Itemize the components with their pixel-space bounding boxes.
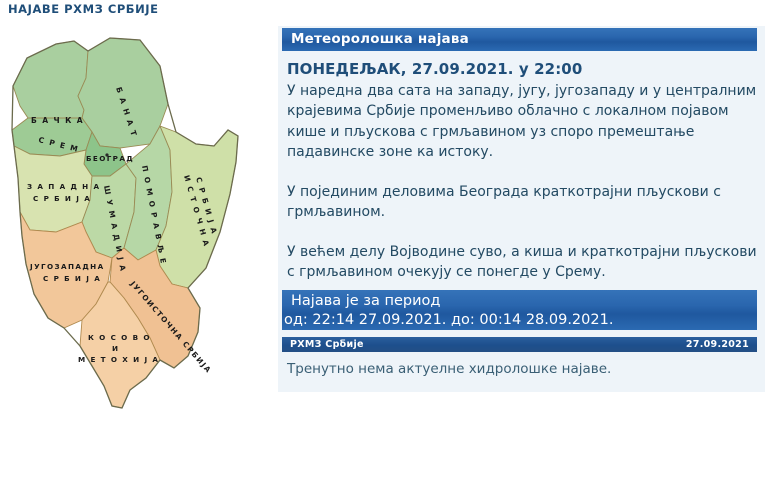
announcement-text-1: У наредна два сата на западу, југу, југо… — [287, 83, 756, 161]
belgrade-city-dot — [105, 153, 108, 156]
announcement-paragraph-2: У појединим деловима Београда краткотрај… — [287, 182, 757, 223]
map-label-jugozapadna-srbija-1: ЈУГОЗАПАДНА — [29, 262, 105, 271]
source-date: 27.09.2021 — [686, 337, 749, 352]
map-label-kosovo-2: И — [112, 344, 119, 353]
source-label: РХМЗ Србије — [290, 337, 364, 352]
announcement-paragraph-3: У већем делу Војводине суво, а киша и кр… — [287, 242, 757, 283]
source-bar: РХМЗ Србије 27.09.2021 — [282, 337, 757, 352]
announcement-lead: ПОНЕДЕЉАК, 27.09.2021. у 22:00 — [287, 59, 757, 80]
map-label-zapadna-srbija-1: З А П А Д Н А — [27, 182, 100, 191]
region-backa[interactable] — [13, 41, 88, 118]
period-label: Најава је за период — [291, 292, 757, 311]
map-label-jugozapadna-srbija-2: С Р Б И Ј А — [43, 274, 101, 283]
map-svg[interactable]: Б А Ч К А Б А Н А Т С Р Е М БЕОГРАД З А … — [0, 26, 276, 456]
map-label-zapadna-srbija-2: С Р Б И Ј А — [33, 194, 91, 203]
page-title: НАЈАВЕ РХМЗ СРБИЈЕ — [8, 2, 159, 16]
meteo-announcement-panel: Метеоролошка најава ПОНЕДЕЉАК, 27.09.202… — [278, 26, 765, 392]
period-range: од: 22:14 27.09.2021. до: 00:14 28.09.20… — [284, 311, 757, 330]
announcement-paragraph-1: ПОНЕДЕЉАК, 27.09.2021. у 22:00 У наредна… — [287, 59, 757, 163]
map-label-beograd: БЕОГРАД — [86, 154, 134, 163]
serbia-region-map[interactable]: Б А Ч К А Б А Н А Т С Р Е М БЕОГРАД З А … — [0, 26, 276, 456]
page-root: НАЈАВЕ РХМЗ СРБИЈЕ — [0, 0, 770, 483]
map-label-backa: Б А Ч К А — [31, 116, 84, 125]
hydro-note: Тренутно нема актуелне хидролошке најаве… — [287, 360, 757, 378]
period-bar: Најава је за период од: 22:14 27.09.2021… — [282, 290, 757, 330]
map-label-kosovo-1: К О С О В О — [88, 333, 151, 342]
map-label-kosovo-3: М Е Т О Х И Ј А — [78, 355, 159, 364]
announcement-body: ПОНЕДЕЉАК, 27.09.2021. у 22:00 У наредна… — [287, 59, 757, 283]
panel-title-bar: Метеоролошка најава — [282, 28, 757, 51]
